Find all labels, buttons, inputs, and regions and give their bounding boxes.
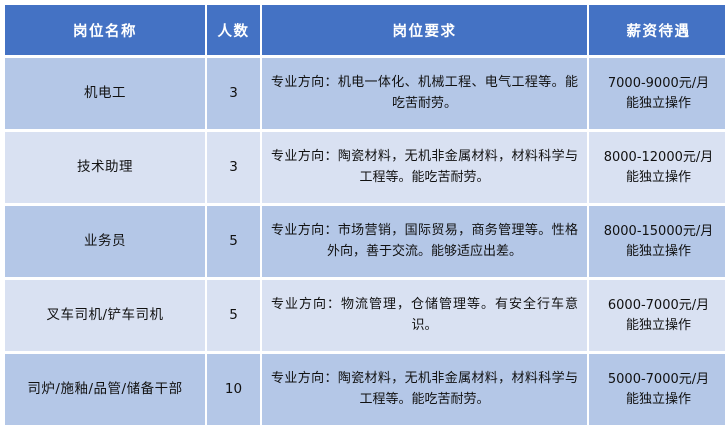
cell-salary: 8000-12000元/月 能独立操作 <box>589 132 725 203</box>
cell-salary: 7000-9000元/月 能独立操作 <box>589 58 725 129</box>
table-row: 技术助理 3 专业方向：陶瓷材料，无机非金属材料，材料科学与工程等。能吃苦耐劳。… <box>5 132 725 203</box>
cell-headcount: 3 <box>207 58 260 129</box>
cell-headcount: 10 <box>207 354 260 425</box>
table-row: 机电工 3 专业方向：机电一体化、机械工程、电气工程等。能吃苦耐劳。 7000-… <box>5 58 725 129</box>
salary-range: 7000-9000元/月 <box>595 74 722 94</box>
table-body: 机电工 3 专业方向：机电一体化、机械工程、电气工程等。能吃苦耐劳。 7000-… <box>5 58 725 425</box>
salary-note: 能独立操作 <box>595 168 722 188</box>
cell-headcount: 5 <box>207 206 260 277</box>
cell-headcount: 3 <box>207 132 260 203</box>
salary-range: 6000-7000元/月 <box>595 296 722 316</box>
cell-requirement: 专业方向：陶瓷材料，无机非金属材料，材料科学与工程等。能吃苦耐劳。 <box>262 354 587 425</box>
cell-job-name: 技术助理 <box>5 132 205 203</box>
cell-headcount: 5 <box>207 280 260 351</box>
cell-salary: 5000-7000元/月 能独立操作 <box>589 354 725 425</box>
salary-range: 8000-15000元/月 <box>595 222 722 242</box>
column-header-salary: 薪资待遇 <box>589 5 725 55</box>
cell-job-name: 司炉/施釉/品管/储备干部 <box>5 354 205 425</box>
column-header-headcount: 人数 <box>207 5 260 55</box>
cell-salary: 8000-15000元/月 能独立操作 <box>589 206 725 277</box>
cell-salary: 6000-7000元/月 能独立操作 <box>589 280 725 351</box>
column-header-job-name: 岗位名称 <box>5 5 205 55</box>
table-row: 司炉/施釉/品管/储备干部 10 专业方向：陶瓷材料，无机非金属材料，材料科学与… <box>5 354 725 425</box>
salary-note: 能独立操作 <box>595 390 722 410</box>
salary-range: 5000-7000元/月 <box>595 370 722 390</box>
salary-note: 能独立操作 <box>595 242 722 262</box>
cell-requirement: 专业方向：物流管理，仓储管理等。有安全行车意识。 <box>262 280 587 351</box>
table-header: 岗位名称 人数 岗位要求 薪资待遇 <box>5 5 725 55</box>
cell-requirement: 专业方向：市场营销，国际贸易，商务管理等。性格外向，善于交流。能够适应出差。 <box>262 206 587 277</box>
cell-job-name: 叉车司机/铲车司机 <box>5 280 205 351</box>
table-header-row: 岗位名称 人数 岗位要求 薪资待遇 <box>5 5 725 55</box>
table-row: 叉车司机/铲车司机 5 专业方向：物流管理，仓储管理等。有安全行车意识。 600… <box>5 280 725 351</box>
salary-note: 能独立操作 <box>595 94 722 114</box>
table-row: 业务员 5 专业方向：市场营销，国际贸易，商务管理等。性格外向，善于交流。能够适… <box>5 206 725 277</box>
job-table-container: 岗位名称 人数 岗位要求 薪资待遇 机电工 3 专业方向：机电一体化、机械工程、… <box>0 0 725 403</box>
salary-range: 8000-12000元/月 <box>595 148 722 168</box>
cell-requirement: 专业方向：陶瓷材料，无机非金属材料，材料科学与工程等。能吃苦耐劳。 <box>262 132 587 203</box>
cell-job-name: 机电工 <box>5 58 205 129</box>
column-header-requirement: 岗位要求 <box>262 5 587 55</box>
job-listing-table: 岗位名称 人数 岗位要求 薪资待遇 机电工 3 专业方向：机电一体化、机械工程、… <box>3 2 725 428</box>
salary-note: 能独立操作 <box>595 316 722 336</box>
cell-requirement: 专业方向：机电一体化、机械工程、电气工程等。能吃苦耐劳。 <box>262 58 587 129</box>
cell-job-name: 业务员 <box>5 206 205 277</box>
